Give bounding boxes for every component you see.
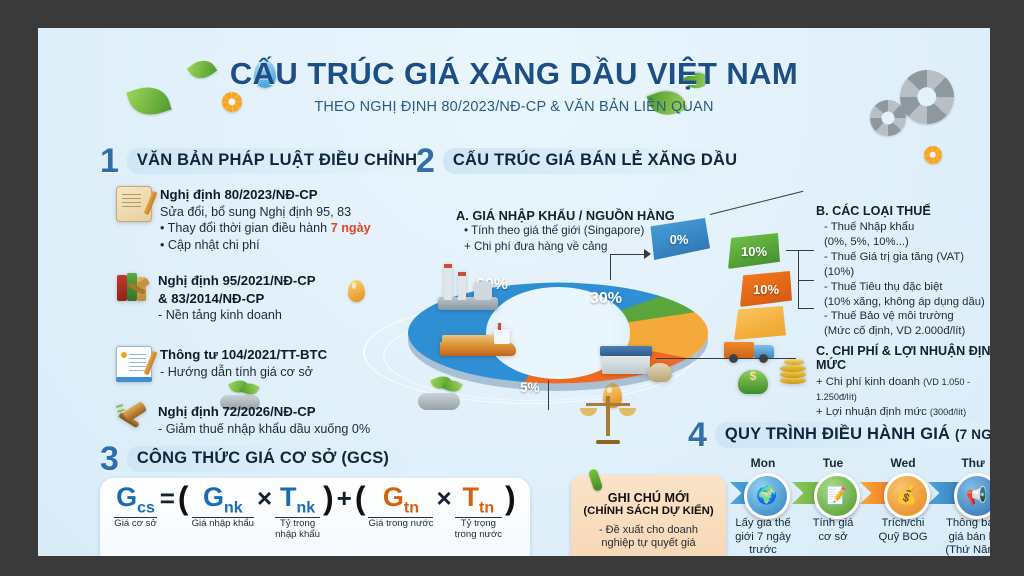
formula-symbol: Gcs	[114, 484, 156, 516]
formula-term-gnk: Gnk Giá nhập khẩu	[192, 484, 254, 530]
timeline-day: Thư	[938, 456, 990, 470]
section-label: CÔNG THỨC GIÁ CƠ SỞ (GCS)	[127, 446, 411, 472]
tax-item: - Thuế Tiêu thụ đặc biệt(10% xăng, không…	[824, 280, 990, 310]
tax-item: - Thuế Giá trị gia tăng (VAT)(10%)	[824, 250, 990, 280]
section-label: QUY TRÌNH ĐIỀU HÀNH GIÁ (7 NGÀY)	[715, 422, 990, 448]
formula-term-tnk: Tnk Tỷ trọng nhập khẩu	[275, 484, 320, 541]
step-label: Lấy giá thế giới 7 ngày trước	[728, 517, 798, 556]
formula-multiply: ×	[257, 484, 272, 511]
block-c-heading: C. CHI PHÍ & LỢI NHUẬN ĐỊNH MỨC	[816, 344, 990, 372]
block-b-heading: B. CÁC LOẠI THUẾ	[816, 204, 990, 218]
money-bag-icon	[648, 358, 672, 382]
law-line: - Hướng dẫn tính giá cơ sở	[160, 365, 313, 379]
formula-symbol: Ttn	[455, 484, 502, 516]
formula-note: *Tỷ trọng được xác định hàng quý	[387, 555, 516, 556]
money-bag-icon: $	[738, 364, 768, 394]
law-title-2: & 83/2014/NĐ-CP	[158, 291, 264, 306]
law-line: Sửa đổi, bổ sung Nghị định 95, 83	[160, 205, 351, 219]
donut-label-5: 5%	[520, 380, 540, 395]
law-line: • Thay đổi thời gian điều hành	[160, 221, 331, 235]
section-number: 1	[100, 144, 119, 178]
block-c-cost-profit: C. CHI PHÍ & LỢI NHUẬN ĐỊNH MỨC + Chi ph…	[816, 344, 990, 420]
law-title: Thông tư 104/2021/TT-BTC	[160, 347, 327, 362]
callout-line	[656, 358, 796, 359]
law-item[interactable]: Nghị định 80/2023/NĐ-CP Sửa đổi, bổ sung…	[116, 186, 416, 254]
document-pencil-icon	[116, 346, 152, 382]
step-icon-money-hand[interactable]: 💰	[884, 473, 930, 519]
callout-line	[786, 250, 814, 251]
gear-icon	[924, 146, 942, 164]
exploded-slice-1: 10%	[728, 233, 780, 269]
formula-label: Tỷ trọng nhập khẩu	[275, 517, 320, 540]
exploded-label: 10%	[753, 282, 779, 297]
section-number: 4	[688, 418, 707, 452]
formula-term-ttn: Ttn Tỷ trọng trong nước	[455, 484, 502, 541]
formula-label: Giá cơ sở	[114, 517, 156, 530]
warehouse-icon	[602, 340, 650, 374]
formula-term-gtn: Gtn Giá trong nước	[368, 484, 433, 530]
formula-term-gcs: Gcs Giá cơ sở	[114, 484, 156, 530]
callout-line	[798, 280, 814, 281]
section-heading-4: 4 QUY TRÌNH ĐIỀU HÀNH GIÁ (7 NGÀY)	[688, 418, 990, 452]
formula-multiply: ×	[436, 484, 451, 511]
timeline-days: Mon Tue Wed Thư	[728, 456, 990, 470]
law-line: - Nền tảng kinh doanh	[158, 308, 282, 322]
books-gavel-icon	[116, 272, 150, 306]
formula-label: Giá nhập khẩu	[192, 517, 254, 530]
tanker-ship-icon	[440, 324, 516, 358]
law-highlight: 7 ngày	[331, 221, 371, 235]
law-item[interactable]: Nghị định 95/2021/NĐ-CP & 83/2014/NĐ-CP …	[116, 272, 416, 324]
formula-symbol: Tnk	[275, 484, 320, 516]
tax-item: - Thuế Bảo vệ môi trường(Mức cố định, VD…	[824, 309, 990, 339]
timeline-day: Wed	[868, 456, 938, 470]
base-price-formula: Gcs Giá cơ sở = ( Gnk Giá nhập khẩu × Tn…	[100, 478, 530, 556]
tax-item: - Thuế Nhập khẩu(0%, 5%, 10%...)	[824, 220, 990, 250]
law-title: Nghị định 80/2023/NĐ-CP	[160, 187, 318, 202]
price-management-timeline: Mon Tue Wed Thư 🌍 📝 💰 📢 Lấy giá thế giới…	[728, 456, 990, 556]
page-title: CẤU TRÚC GIÁ XĂNG DẦU VIỆT NAM THEO NGHỊ…	[38, 56, 990, 115]
section-number: 2	[416, 144, 435, 178]
step-label: Thông báo giá bán lẻ (Thứ Năm)	[938, 517, 990, 556]
exploded-label: 10%	[741, 244, 767, 259]
clip-icon	[588, 468, 603, 492]
new-policy-note-box[interactable]: GHI CHÚ MỚI (CHÍNH SÁCH DỰ KIẾN) - Đề xu…	[571, 475, 726, 556]
formula-paren: )	[505, 484, 516, 513]
formula-symbol: Gnk	[192, 484, 254, 516]
section-heading-3: 3 CÔNG THỨC GIÁ CƠ SỞ (GCS)	[100, 442, 411, 476]
law-line: • Cập nhật chi phí	[160, 238, 260, 252]
title-sub: THEO NGHỊ ĐỊNH 80/2023/NĐ-CP & VĂN BẢN L…	[38, 99, 990, 115]
gavel-icon	[116, 403, 150, 437]
exploded-slice-3	[734, 306, 786, 340]
exploded-label: 0%	[670, 232, 689, 247]
section-heading-2: 2 CẤU TRÚC GIÁ BÁN LẺ XĂNG DẦU	[416, 144, 759, 178]
law-title: Nghị định 72/2026/NĐ-CP	[158, 404, 316, 419]
step-icon-calculator-doc[interactable]: 📝	[814, 473, 860, 519]
block-a-line: • Tính theo giá thế giới (Singapore)	[456, 223, 675, 239]
formula-plus: +	[337, 484, 352, 511]
formula-label: Giá trong nước	[368, 517, 433, 530]
section-label: VĂN BẢN PHÁP LUẬT ĐIỀU CHỈNH	[127, 148, 439, 174]
timeline-labels: Lấy giá thế giới 7 ngày trước Tính giá c…	[728, 517, 990, 556]
law-title: Nghị định 95/2021/NĐ-CP	[158, 273, 316, 288]
title-main: CẤU TRÚC GIÁ XĂNG DẦU VIỆT NAM	[38, 56, 990, 92]
timeline-arrows: 🌍 📝 💰 📢	[728, 473, 990, 513]
timeline-day: Tue	[798, 456, 868, 470]
formula-symbol: Gtn	[368, 484, 433, 516]
step-icon-globe[interactable]: 🌍	[744, 473, 790, 519]
note-body: - Đề xuất cho doanhnghiệp tự quyết giá	[571, 524, 726, 551]
formula-paren: (	[178, 484, 189, 513]
formula-equals: =	[160, 484, 175, 511]
step-label: Tính giá cơ sở	[798, 517, 868, 556]
law-line: - Giảm thuế nhập khẩu dầu xuống 0%	[158, 422, 370, 436]
callout-line	[798, 250, 799, 308]
exploded-slice-2: 10%	[740, 271, 792, 307]
formula-paren: )	[323, 484, 334, 513]
callout-line	[798, 308, 814, 309]
coin-stack-icon	[780, 350, 806, 384]
screenshot-frame: CẤU TRÚC GIÁ XĂNG DẦU VIỆT NAM THEO NGHỊ…	[0, 0, 1024, 576]
formula-label: Tỷ trọng trong nước	[455, 517, 502, 540]
law-item[interactable]: Thông tư 104/2021/TT-BTC - Hướng dẫn tín…	[116, 346, 416, 382]
section-label: CẤU TRÚC GIÁ BÁN LẺ XĂNG DẦU	[443, 148, 759, 174]
callout-line	[548, 380, 549, 410]
block-a-heading: A. GIÁ NHẬP KHẨU / NGUỒN HÀNG	[456, 208, 675, 223]
law-item[interactable]: Nghị định 72/2026/NĐ-CP - Giảm thuế nhập…	[116, 403, 426, 437]
infographic-canvas: CẤU TRÚC GIÁ XĂNG DẦU VIỆT NAM THEO NGHỊ…	[38, 28, 990, 556]
callout-line	[710, 191, 803, 215]
note-subtitle: (CHÍNH SÁCH DỰ KIẾN)	[571, 505, 726, 518]
section-number: 3	[100, 442, 119, 476]
note-title: GHI CHÚ MỚI	[571, 491, 726, 505]
cost-item: + Chi phí kinh doanh (VD 1.050 - 1.250đ/…	[816, 375, 990, 405]
donut-label-30: 30%	[590, 290, 622, 308]
refinery-icon	[438, 264, 498, 310]
formula-paren: (	[355, 484, 366, 513]
scroll-icon	[116, 186, 152, 222]
section-heading-1: 1 VĂN BẢN PHÁP LUẬT ĐIỀU CHỈNH	[100, 144, 439, 178]
step-label: Trích/chi Quỹ BOG	[868, 517, 938, 556]
step-icon-megaphone[interactable]: 📢	[954, 473, 990, 519]
block-b-taxes: B. CÁC LOẠI THUẾ - Thuế Nhập khẩu(0%, 5%…	[816, 204, 990, 339]
timeline-day: Mon	[728, 456, 798, 470]
